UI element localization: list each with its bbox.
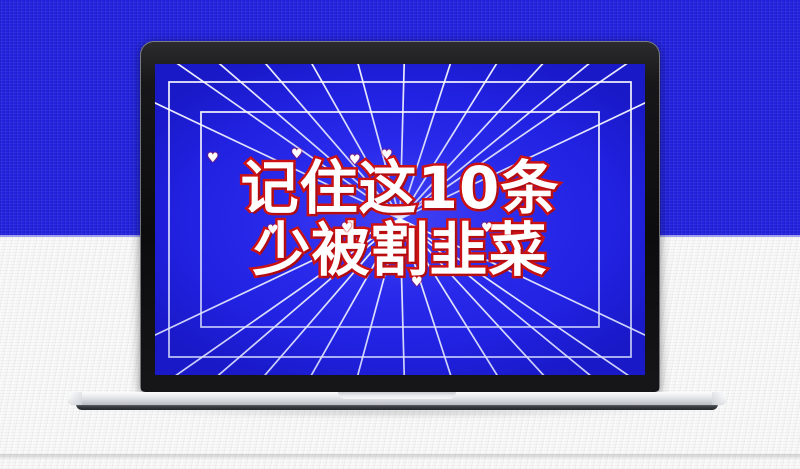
- laptop-base-left-corner: [68, 392, 82, 405]
- laptop-base-right-corner: [712, 392, 726, 405]
- headline-line-1: 记住这10条: [241, 159, 560, 219]
- laptop-base-notch: [338, 392, 456, 399]
- headline-line-2: 少被割韭菜: [252, 221, 547, 281]
- laptop-device: 记住这10条 少被割韭菜 ♥ ♥ ♥ ♥ ♥ ♥ ♥ ♥: [0, 0, 800, 469]
- laptop-screen[interactable]: 记住这10条 少被割韭菜 ♥ ♥ ♥ ♥ ♥ ♥ ♥ ♥: [155, 64, 645, 375]
- laptop-drop-shadow: [30, 410, 764, 420]
- screen-headline: 记住这10条 少被割韭菜 ♥ ♥ ♥ ♥ ♥ ♥ ♥ ♥: [155, 64, 645, 375]
- poster-canvas: 记住这10条 少被割韭菜 ♥ ♥ ♥ ♥ ♥ ♥ ♥ ♥: [0, 0, 800, 469]
- laptop-base: [68, 392, 726, 410]
- heart-icon: ♥: [207, 152, 219, 165]
